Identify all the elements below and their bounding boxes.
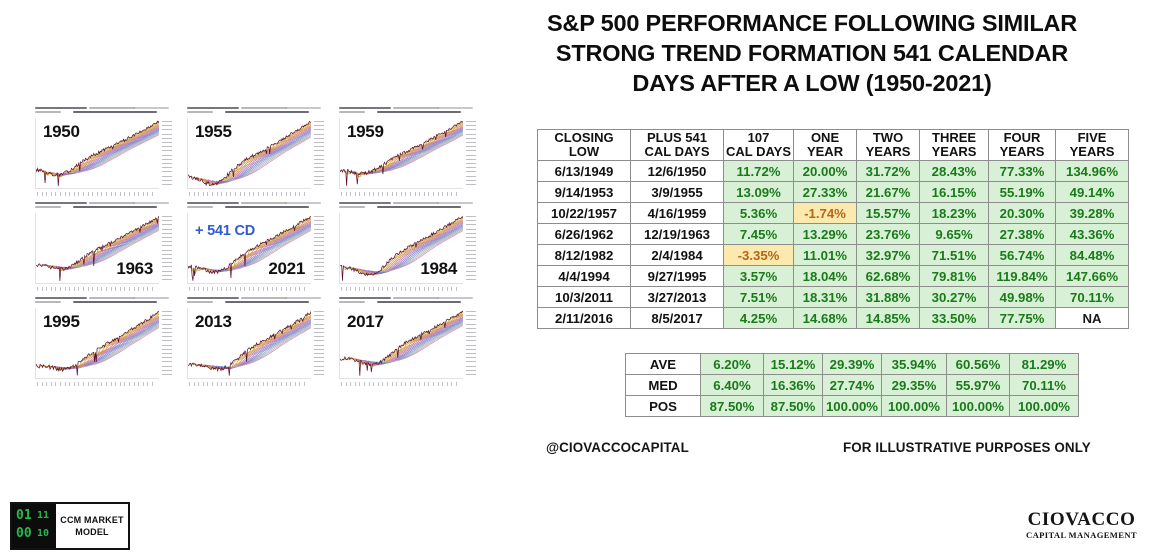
ccm-logo-line-1: CCM MARKET: [60, 514, 124, 526]
chart-x-axis: [35, 190, 159, 198]
chart-x-axis: [187, 190, 311, 198]
return-cell: 84.48%: [1056, 245, 1129, 266]
summary-cell: 29.39%: [823, 354, 882, 375]
return-cell: 14.85%: [857, 308, 920, 329]
return-cell: 119.84%: [989, 266, 1056, 287]
chart-x-axis: [339, 380, 463, 388]
chart-header-text: [185, 106, 325, 116]
summary-cell: 100.00%: [882, 396, 947, 417]
return-cell: 21.67%: [857, 182, 920, 203]
column-header: FOURYEARS: [989, 130, 1056, 161]
return-cell: 3.57%: [724, 266, 794, 287]
return-cell: 79.81%: [920, 266, 989, 287]
date-cell: 9/27/1995: [631, 266, 724, 287]
mini-chart-2021: 2021+ 541 CD: [185, 201, 325, 293]
chart-year-label: 1963: [116, 259, 153, 279]
date-cell: 12/19/1963: [631, 224, 724, 245]
chart-thumbnail-grid: 19501955195919632021+ 541 CD198419952013…: [33, 106, 478, 388]
chart-header-text: [33, 201, 173, 211]
summary-cell: 16.36%: [764, 375, 823, 396]
binary-digit-a: 01: [16, 508, 32, 523]
summary-label: AVE: [626, 354, 701, 375]
column-header: 107CAL DAYS: [724, 130, 794, 161]
return-cell: 55.19%: [989, 182, 1056, 203]
chart-header-text: [33, 296, 173, 306]
return-cell: 23.76%: [857, 224, 920, 245]
mini-chart-1984: 1984: [337, 201, 477, 293]
return-cell: 39.28%: [1056, 203, 1129, 224]
summary-cell: 100.00%: [947, 396, 1010, 417]
chart-year-label: 1995: [43, 312, 80, 332]
chart-x-axis: [339, 285, 463, 293]
return-cell: 77.33%: [989, 161, 1056, 182]
return-cell: 7.51%: [724, 287, 794, 308]
date-cell: 8/5/2017: [631, 308, 724, 329]
return-cell: NA: [1056, 308, 1129, 329]
date-cell: 6/13/1949: [538, 161, 631, 182]
summary-cell: 87.50%: [764, 396, 823, 417]
binary-digit-c: 00: [16, 526, 32, 541]
chart-year-label: 1950: [43, 122, 80, 142]
column-header-bottom: CAL DAYS: [633, 145, 721, 159]
chart-y-axis: [464, 308, 477, 379]
mini-chart-1950: 1950: [33, 106, 173, 198]
chart-header-text: [337, 201, 477, 211]
summary-label: MED: [626, 375, 701, 396]
summary-row: MED6.40%16.36%27.74%29.35%55.97%70.11%: [626, 375, 1079, 396]
return-cell: 70.11%: [1056, 287, 1129, 308]
date-cell: 10/22/1957: [538, 203, 631, 224]
chart-x-axis: [35, 285, 159, 293]
column-header-top: FIVE: [1058, 131, 1126, 145]
column-header: ONEYEAR: [794, 130, 857, 161]
column-header-bottom: YEAR: [796, 145, 854, 159]
mini-chart-2013: 2013: [185, 296, 325, 388]
table-row: 6/13/194912/6/195011.72%20.00%31.72%28.4…: [538, 161, 1129, 182]
return-cell: 147.66%: [1056, 266, 1129, 287]
date-cell: 9/14/1953: [538, 182, 631, 203]
column-header: THREEYEARS: [920, 130, 989, 161]
page-title-line-3: DAYS AFTER A LOW (1950-2021): [512, 68, 1112, 98]
chart-header-text: [337, 106, 477, 116]
chart-year-label: 2021: [268, 259, 305, 279]
table-row: 10/3/20113/27/20137.51%18.31%31.88%30.27…: [538, 287, 1129, 308]
summary-cell: 100.00%: [823, 396, 882, 417]
return-cell: 27.33%: [794, 182, 857, 203]
column-header: FIVEYEARS: [1056, 130, 1129, 161]
chart-x-axis: [187, 380, 311, 388]
date-cell: 4/4/1994: [538, 266, 631, 287]
mini-chart-1995: 1995: [33, 296, 173, 388]
ciovacco-capital-logo: CIOVACCO CAPITAL MANAGEMENT: [1026, 510, 1137, 541]
return-cell: 31.88%: [857, 287, 920, 308]
ccm-market-model-logo: 01 11 00 10 CCM MARKET MODEL: [10, 502, 130, 550]
return-cell: 4.25%: [724, 308, 794, 329]
chart-y-axis: [464, 213, 477, 284]
table-row: 2/11/20168/5/20174.25%14.68%14.85%33.50%…: [538, 308, 1129, 329]
column-header-top: ONE: [796, 131, 854, 145]
page-title: S&P 500 PERFORMANCE FOLLOWING SIMILAR ST…: [512, 8, 1112, 98]
disclaimer-text: FOR ILLUSTRATIVE PURPOSES ONLY: [843, 440, 1091, 455]
summary-cell: 35.94%: [882, 354, 947, 375]
summary-cell: 27.74%: [823, 375, 882, 396]
summary-cell: 100.00%: [1010, 396, 1079, 417]
return-cell: 16.15%: [920, 182, 989, 203]
binary-digit-d: 10: [37, 528, 49, 539]
return-cell: 7.45%: [724, 224, 794, 245]
return-cell: 9.65%: [920, 224, 989, 245]
performance-table: CLOSINGLOWPLUS 541CAL DAYS107CAL DAYSONE…: [537, 129, 1129, 329]
return-cell: 30.27%: [920, 287, 989, 308]
return-cell: 28.43%: [920, 161, 989, 182]
chart-y-axis: [312, 308, 325, 379]
table-row: 4/4/19949/27/19953.57%18.04%62.68%79.81%…: [538, 266, 1129, 287]
summary-cell: 87.50%: [701, 396, 764, 417]
ciovacco-logo-tagline: CAPITAL MANAGEMENT: [1026, 530, 1137, 541]
chart-header-text: [185, 201, 325, 211]
return-cell: 13.09%: [724, 182, 794, 203]
chart-header-text: [185, 296, 325, 306]
summary-row: POS87.50%87.50%100.00%100.00%100.00%100.…: [626, 396, 1079, 417]
column-header-bottom: YEARS: [922, 145, 986, 159]
return-cell: 5.36%: [724, 203, 794, 224]
table-row: 9/14/19533/9/195513.09%27.33%21.67%16.15…: [538, 182, 1129, 203]
summary-cell: 60.56%: [947, 354, 1010, 375]
summary-cell: 29.35%: [882, 375, 947, 396]
return-cell: 13.29%: [794, 224, 857, 245]
return-cell: 49.14%: [1056, 182, 1129, 203]
summary-cell: 81.29%: [1010, 354, 1079, 375]
page-title-line-2: STRONG TREND FORMATION 541 CALENDAR: [512, 38, 1112, 68]
mini-chart-1955: 1955: [185, 106, 325, 198]
chart-x-axis: [187, 285, 311, 293]
return-cell: 71.51%: [920, 245, 989, 266]
summary-cell: 55.97%: [947, 375, 1010, 396]
return-cell: 18.31%: [794, 287, 857, 308]
return-cell: -3.35%: [724, 245, 794, 266]
return-cell: 49.98%: [989, 287, 1056, 308]
ccm-logo-line-2: MODEL: [75, 526, 109, 538]
column-header-bottom: CAL DAYS: [726, 145, 791, 159]
column-header-top: FOUR: [991, 131, 1053, 145]
table-header-row: CLOSINGLOWPLUS 541CAL DAYS107CAL DAYSONE…: [538, 130, 1129, 161]
return-cell: 77.75%: [989, 308, 1056, 329]
column-header-top: TWO: [859, 131, 917, 145]
binary-digit-b: 11: [37, 510, 49, 521]
mini-chart-1959: 1959: [337, 106, 477, 198]
date-cell: 4/16/1959: [631, 203, 724, 224]
table-row: 6/26/196212/19/19637.45%13.29%23.76%9.65…: [538, 224, 1129, 245]
return-cell: -1.74%: [794, 203, 857, 224]
summary-cell: 70.11%: [1010, 375, 1079, 396]
chart-year-label: 1959: [347, 122, 384, 142]
return-cell: 18.04%: [794, 266, 857, 287]
return-cell: 27.38%: [989, 224, 1056, 245]
date-cell: 2/4/1984: [631, 245, 724, 266]
summary-label: POS: [626, 396, 701, 417]
mini-chart-1963: 1963: [33, 201, 173, 293]
date-cell: 2/11/2016: [538, 308, 631, 329]
return-cell: 11.01%: [794, 245, 857, 266]
summary-table-body: AVE6.20%15.12%29.39%35.94%60.56%81.29%ME…: [626, 354, 1079, 417]
summary-cell: 6.20%: [701, 354, 764, 375]
column-header-bottom: YEARS: [859, 145, 917, 159]
date-cell: 8/12/1982: [538, 245, 631, 266]
return-cell: 14.68%: [794, 308, 857, 329]
column-header: PLUS 541CAL DAYS: [631, 130, 724, 161]
column-header-top: PLUS 541: [633, 131, 721, 145]
return-cell: 31.72%: [857, 161, 920, 182]
column-header-top: THREE: [922, 131, 986, 145]
date-cell: 6/26/1962: [538, 224, 631, 245]
date-cell: 3/9/1955: [631, 182, 724, 203]
return-cell: 20.00%: [794, 161, 857, 182]
column-header-top: CLOSING: [540, 131, 628, 145]
chart-year-label: 1984: [420, 259, 457, 279]
column-header: TWOYEARS: [857, 130, 920, 161]
binary-digits-icon: 01 11 00 10: [12, 504, 56, 548]
return-cell: 18.23%: [920, 203, 989, 224]
page-title-line-1: S&P 500 PERFORMANCE FOLLOWING SIMILAR: [512, 8, 1112, 38]
summary-cell: 15.12%: [764, 354, 823, 375]
column-header-bottom: YEARS: [1058, 145, 1126, 159]
summary-row: AVE6.20%15.12%29.39%35.94%60.56%81.29%: [626, 354, 1079, 375]
date-cell: 12/6/1950: [631, 161, 724, 182]
column-header-bottom: YEARS: [991, 145, 1053, 159]
return-cell: 62.68%: [857, 266, 920, 287]
chart-year-label: 2013: [195, 312, 232, 332]
column-header: CLOSINGLOW: [538, 130, 631, 161]
chart-header-text: [33, 106, 173, 116]
column-header-bottom: LOW: [540, 145, 628, 159]
return-cell: 20.30%: [989, 203, 1056, 224]
performance-table-header: CLOSINGLOWPLUS 541CAL DAYS107CAL DAYSONE…: [538, 130, 1129, 161]
table-row: 10/22/19574/16/19595.36%-1.74%15.57%18.2…: [538, 203, 1129, 224]
chart-y-axis: [312, 118, 325, 189]
column-header-top: 107: [726, 131, 791, 145]
chart-y-axis: [160, 118, 173, 189]
table-row: 8/12/19822/4/1984-3.35%11.01%32.97%71.51…: [538, 245, 1129, 266]
chart-year-label: 1955: [195, 122, 232, 142]
chart-header-text: [337, 296, 477, 306]
return-cell: 32.97%: [857, 245, 920, 266]
summary-statistics-table: AVE6.20%15.12%29.39%35.94%60.56%81.29%ME…: [625, 353, 1079, 417]
date-cell: 10/3/2011: [538, 287, 631, 308]
social-handle: @CIOVACCOCAPITAL: [546, 440, 689, 455]
return-cell: 15.57%: [857, 203, 920, 224]
return-cell: 43.36%: [1056, 224, 1129, 245]
performance-table-body: 6/13/194912/6/195011.72%20.00%31.72%28.4…: [538, 161, 1129, 329]
cd-offset-badge: + 541 CD: [195, 223, 255, 239]
return-cell: 11.72%: [724, 161, 794, 182]
chart-x-axis: [339, 190, 463, 198]
return-cell: 134.96%: [1056, 161, 1129, 182]
chart-y-axis: [160, 213, 173, 284]
return-cell: 33.50%: [920, 308, 989, 329]
summary-cell: 6.40%: [701, 375, 764, 396]
chart-y-axis: [160, 308, 173, 379]
chart-x-axis: [35, 380, 159, 388]
chart-y-axis: [312, 213, 325, 284]
chart-y-axis: [464, 118, 477, 189]
return-cell: 56.74%: [989, 245, 1056, 266]
ciovacco-logo-name: CIOVACCO: [1026, 510, 1137, 530]
chart-year-label: 2017: [347, 312, 384, 332]
ccm-logo-text: CCM MARKET MODEL: [56, 504, 128, 548]
mini-chart-2017: 2017: [337, 296, 477, 388]
date-cell: 3/27/2013: [631, 287, 724, 308]
